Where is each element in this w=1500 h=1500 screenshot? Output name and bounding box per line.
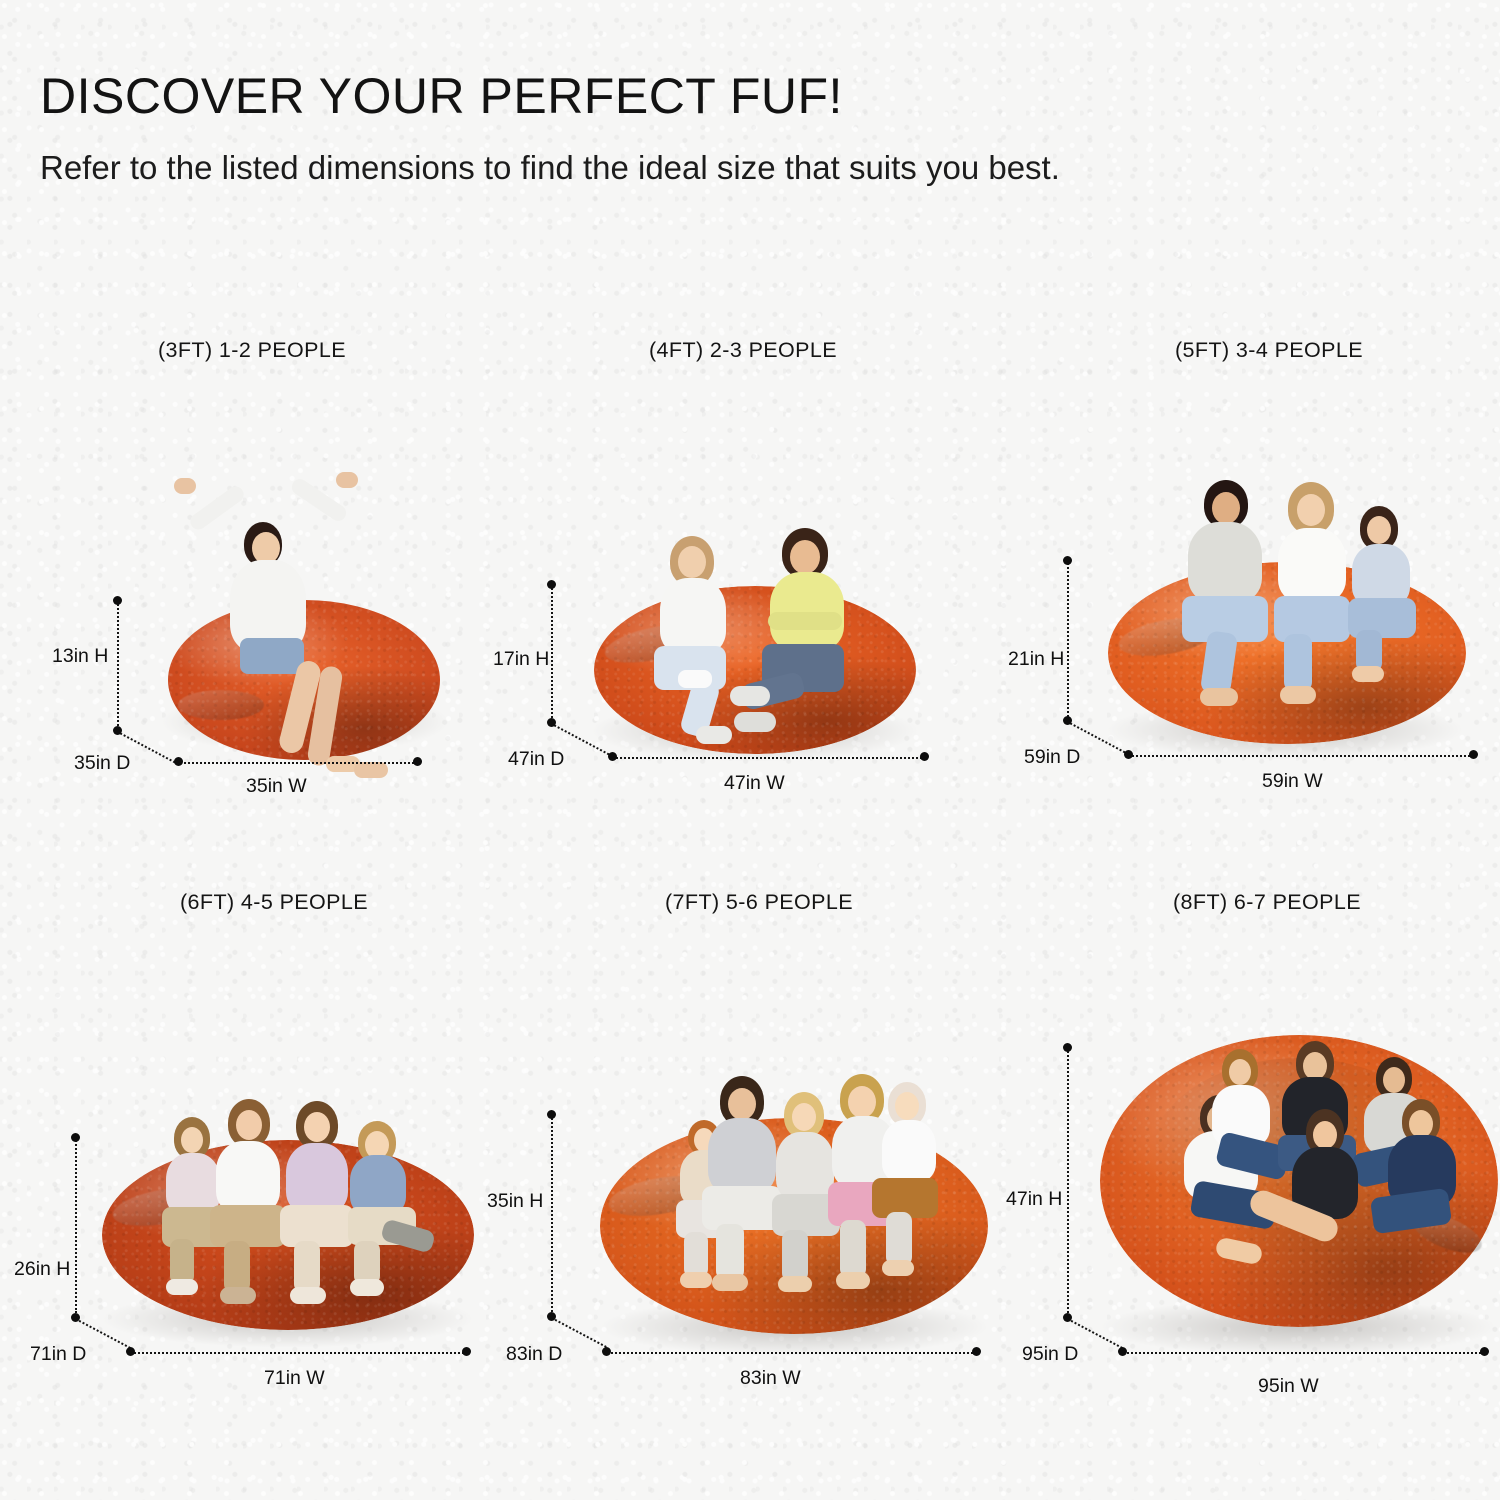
dim-label-width: 95in W	[1258, 1375, 1319, 1398]
product-label-4ft: (4FT) 2-3 PEOPLE	[649, 338, 837, 363]
dim-label-width: 83in W	[740, 1367, 801, 1390]
dim-label-height: 13in H	[52, 645, 108, 668]
dim-point-width-right	[462, 1347, 471, 1356]
dim-line-height	[1067, 1047, 1069, 1313]
dim-label-depth: 71in D	[30, 1343, 86, 1366]
dim-point-height-top	[1063, 1043, 1072, 1052]
dim-point-width-left	[608, 752, 617, 761]
dim-point-height-top	[1063, 556, 1072, 565]
dim-point-width-right	[1480, 1347, 1489, 1356]
dim-line-height	[551, 584, 553, 722]
page-subtitle: Refer to the listed dimensions to find t…	[40, 145, 1270, 191]
dim-line-width	[131, 1352, 467, 1354]
occupants-7ft	[600, 1060, 988, 1340]
dim-point-height-top	[547, 580, 556, 589]
header: DISCOVER YOUR PERFECT FUF! Refer to the …	[40, 70, 1340, 190]
dim-point-height-top	[71, 1133, 80, 1142]
dim-label-height: 17in H	[493, 648, 549, 671]
occupants-3ft	[168, 470, 440, 770]
occupants-6ft	[102, 1085, 474, 1345]
dim-point-corner	[1063, 1313, 1072, 1322]
dim-point-width-left	[1118, 1347, 1127, 1356]
dim-line-height	[1067, 560, 1069, 720]
occupants-4ft	[594, 520, 916, 770]
product-label-8ft: (8FT) 6-7 PEOPLE	[1173, 890, 1361, 915]
dim-label-width: 35in W	[246, 775, 307, 798]
dim-label-width: 59in W	[1262, 770, 1323, 793]
product-label-7ft: (7FT) 5-6 PEOPLE	[665, 890, 853, 915]
dim-label-width: 71in W	[264, 1367, 325, 1390]
dim-line-height	[551, 1114, 553, 1312]
dim-point-height-top	[113, 596, 122, 605]
dim-point-height-top	[547, 1110, 556, 1119]
dim-point-width-left	[1124, 750, 1133, 759]
product-label-6ft: (6FT) 4-5 PEOPLE	[180, 890, 368, 915]
dim-line-width	[1129, 755, 1474, 757]
dim-line-width	[1123, 1352, 1485, 1354]
dim-line-height	[75, 1137, 77, 1313]
product-label-3ft: (3FT) 1-2 PEOPLE	[158, 338, 346, 363]
dim-label-height: 35in H	[487, 1190, 543, 1213]
dim-point-corner	[71, 1313, 80, 1322]
dim-point-width-right	[972, 1347, 981, 1356]
dim-label-height: 47in H	[1006, 1188, 1062, 1211]
dim-label-depth: 35in D	[74, 752, 130, 775]
dim-line-height	[117, 600, 119, 730]
dim-point-width-left	[174, 757, 183, 766]
dim-point-corner	[113, 726, 122, 735]
occupants-5ft	[1108, 470, 1466, 750]
product-label-5ft: (5FT) 3-4 PEOPLE	[1175, 338, 1363, 363]
dim-line-width	[179, 762, 418, 764]
dim-label-depth: 95in D	[1022, 1343, 1078, 1366]
dim-label-depth: 59in D	[1024, 746, 1080, 769]
size-guide-page: DISCOVER YOUR PERFECT FUF! Refer to the …	[0, 0, 1500, 1500]
dim-line-width	[607, 1352, 977, 1354]
dim-label-width: 47in W	[724, 772, 785, 795]
dim-point-width-right	[413, 757, 422, 766]
dim-label-height: 26in H	[14, 1258, 70, 1281]
dim-label-depth: 47in D	[508, 748, 564, 771]
dim-line-width	[613, 757, 925, 759]
dim-point-width-right	[1469, 750, 1478, 759]
occupants-8ft	[1100, 1035, 1498, 1327]
dim-point-width-left	[126, 1347, 135, 1356]
dim-point-width-left	[602, 1347, 611, 1356]
dim-point-corner	[1063, 716, 1072, 725]
dim-point-width-right	[920, 752, 929, 761]
dim-label-height: 21in H	[1008, 648, 1064, 671]
dim-point-corner	[547, 1312, 556, 1321]
dim-label-depth: 83in D	[506, 1343, 562, 1366]
dim-point-corner	[547, 718, 556, 727]
page-title: DISCOVER YOUR PERFECT FUF!	[40, 70, 1340, 123]
